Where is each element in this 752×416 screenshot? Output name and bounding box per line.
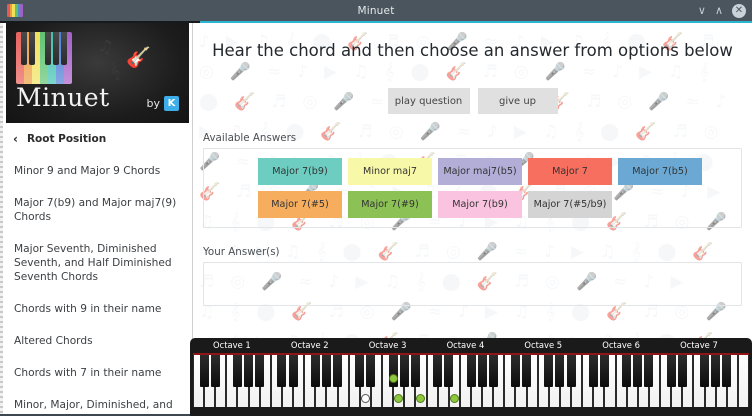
octave-label-4: Octave 4	[427, 340, 505, 350]
play-question-button[interactable]: play question	[388, 88, 470, 114]
keyboard-base	[193, 407, 749, 416]
octave-label-2: Octave 2	[271, 340, 349, 350]
black-key[interactable]	[255, 355, 264, 387]
app-logo: ♫ 🎸 𝄞 Minuet by K	[6, 23, 189, 123]
logo-attribution: by K	[147, 96, 180, 111]
black-key[interactable]	[200, 355, 209, 387]
black-key[interactable]	[433, 355, 442, 387]
black-key[interactable]	[211, 355, 220, 387]
black-key[interactable]	[678, 355, 687, 387]
answer-row-2: Major 7(#5)Major 7(#9)Major 7(b9)Major 7…	[204, 191, 741, 218]
black-key[interactable]	[633, 355, 642, 387]
chevron-left-icon[interactable]: ‹	[13, 132, 18, 146]
black-key[interactable]	[311, 355, 320, 387]
black-key[interactable]	[355, 355, 364, 387]
by-label: by	[147, 97, 161, 110]
logo-wordmark: Minuet	[16, 83, 110, 112]
exercise-controls: play question give up	[193, 88, 752, 114]
octave-label-6: Octave 6	[582, 340, 660, 350]
sidebar-item-minor9-major9[interactable]: Minor 9 and Major 9 Chords	[3, 155, 192, 187]
black-key[interactable]	[444, 355, 453, 387]
black-key[interactable]	[711, 355, 720, 387]
black-key[interactable]	[722, 355, 731, 387]
black-key[interactable]	[700, 355, 709, 387]
answer-option-7[interactable]: Major 7(b9)	[438, 191, 522, 218]
note-marker-0	[361, 394, 370, 403]
your-answers-label: Your Answer(s)	[203, 246, 752, 258]
black-key[interactable]	[589, 355, 598, 387]
answer-option-8[interactable]: Major 7(#5/b9)	[528, 191, 612, 218]
note-marker-1	[389, 374, 398, 383]
sidebar-item-altered-chords[interactable]: Altered Chords	[3, 325, 192, 357]
answer-row-1: Major 7(b9)Minor maj7Major maj7(b5)Major…	[204, 158, 741, 185]
note-marker-4	[450, 394, 459, 403]
sidebar-category-title: Root Position	[27, 133, 106, 145]
guitar-icon: 🎸	[126, 45, 151, 69]
black-key[interactable]	[478, 355, 487, 387]
black-key[interactable]	[333, 355, 342, 387]
black-key[interactable]	[600, 355, 609, 387]
black-key[interactable]	[244, 355, 253, 387]
answer-option-2[interactable]: Major maj7(b5)	[438, 158, 522, 185]
sidebar-item-major-seventh[interactable]: Major Seventh, Diminished Seventh, and H…	[3, 233, 192, 293]
answer-option-5[interactable]: Major 7(#5)	[258, 191, 342, 218]
answer-option-0[interactable]: Major 7(b9)	[258, 158, 342, 185]
octave-label-3: Octave 3	[349, 340, 427, 350]
sidebar-back-header[interactable]: ‹ Root Position	[3, 123, 192, 155]
application-window: Minuet ∨ ∧ ✕ ♫ �	[0, 0, 752, 416]
black-key[interactable]	[544, 355, 553, 387]
kde-logo-icon: K	[164, 96, 179, 111]
answer-option-4[interactable]: Major 7(b5)	[618, 158, 702, 185]
octave-label-5: Octave 5	[504, 340, 582, 350]
your-answers-panel[interactable]	[203, 262, 742, 306]
black-key[interactable]	[467, 355, 476, 387]
octave-label-bar: Octave 1Octave 2Octave 3Octave 4Octave 5…	[193, 340, 749, 353]
black-key[interactable]	[400, 355, 409, 387]
answer-option-6[interactable]: Major 7(#9)	[348, 191, 432, 218]
black-key[interactable]	[233, 355, 242, 387]
maximize-icon[interactable]: ∧	[715, 5, 723, 16]
sidebar: ♫ 🎸 𝄞 Minuet by K ‹ Root Position Minor …	[3, 23, 193, 414]
black-key[interactable]	[511, 355, 520, 387]
sidebar-item-chords-with-9[interactable]: Chords with 9 in their name	[3, 293, 192, 325]
black-key[interactable]	[411, 355, 420, 387]
black-key[interactable]	[322, 355, 331, 387]
available-answers-label: Available Answers	[203, 132, 752, 144]
black-key[interactable]	[489, 355, 498, 387]
title-bar: Minuet ∨ ∧ ✕	[0, 0, 752, 21]
black-key[interactable]	[555, 355, 564, 387]
window-controls: ∨ ∧ ✕	[698, 0, 746, 21]
music-note-icon: ♫	[96, 36, 115, 59]
answer-option-1[interactable]: Minor maj7	[348, 158, 432, 185]
piano-keyboard[interactable]: Octave 1Octave 2Octave 3Octave 4Octave 5…	[190, 338, 752, 416]
window-title: Minuet	[0, 5, 752, 17]
answer-option-3[interactable]: Major 7	[528, 158, 612, 185]
black-key[interactable]	[522, 355, 531, 387]
black-key[interactable]	[289, 355, 298, 387]
drumsticks-icon: 𝄞	[107, 60, 122, 82]
minimize-icon[interactable]: ∨	[698, 5, 706, 16]
black-key[interactable]	[667, 355, 676, 387]
sidebar-list: Minor 9 and Major 9 Chords Major 7(b9) a…	[3, 155, 192, 414]
rainbow-piano-icon	[16, 32, 72, 84]
give-up-button[interactable]: give up	[478, 88, 558, 114]
black-key[interactable]	[622, 355, 631, 387]
piano-keys[interactable]	[193, 355, 749, 407]
black-key[interactable]	[567, 355, 576, 387]
sidebar-item-minor-major-dim[interactable]: Minor, Major, Diminished, and Augmented …	[3, 389, 192, 414]
available-answers-panel: Major 7(b9)Minor maj7Major maj7(b5)Major…	[203, 148, 742, 228]
octave-label-7: Octave 7	[660, 340, 738, 350]
black-key[interactable]	[277, 355, 286, 387]
black-key[interactable]	[366, 355, 375, 387]
octave-label-1: Octave 1	[193, 340, 271, 350]
white-key[interactable]	[738, 355, 749, 407]
sidebar-item-major7b9[interactable]: Major 7(b9) and Major maj7(9) Chords	[3, 187, 192, 233]
close-icon[interactable]: ✕	[732, 4, 746, 18]
black-key[interactable]	[644, 355, 653, 387]
sidebar-item-chords-with-7[interactable]: Chords with 7 in their name	[3, 357, 192, 389]
page-title: Hear the chord and then choose an answer…	[193, 23, 752, 60]
